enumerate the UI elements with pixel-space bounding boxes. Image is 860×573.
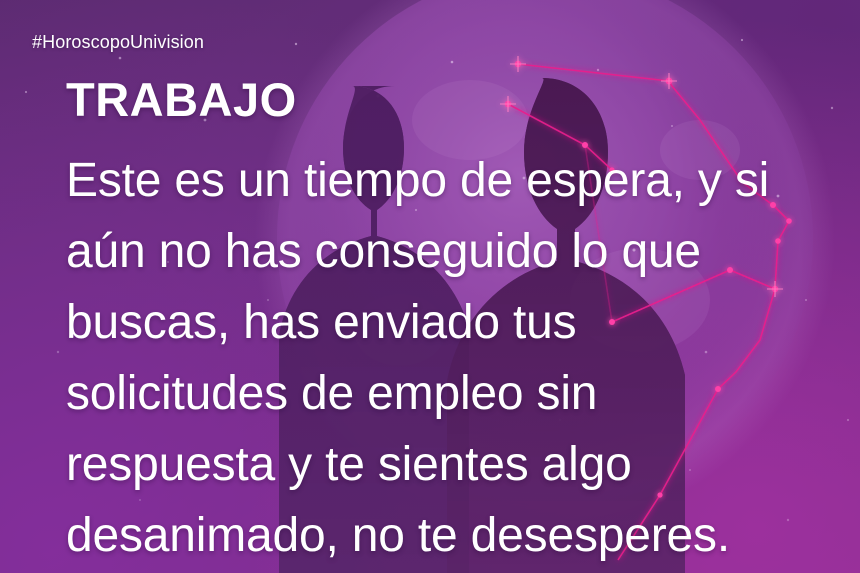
page-title: TRABAJO [66, 76, 297, 123]
body-line-2: aún no has conseguido lo que [66, 216, 856, 287]
body-line-4: solicitudes de empleo sin [66, 358, 856, 429]
horoscope-card: #HoroscopoUnivision TRABAJO Este es un t… [0, 0, 860, 573]
body-line-5: respuesta y te sientes algo [66, 429, 856, 500]
hashtag-label: #HoroscopoUnivision [32, 32, 204, 53]
body-line-6: desanimado, no te desesperes. [66, 500, 856, 571]
horoscope-body: Este es un tiempo de espera, y si aún no… [66, 145, 856, 571]
text-content: #HoroscopoUnivision TRABAJO Este es un t… [0, 0, 860, 573]
body-line-1: Este es un tiempo de espera, y si [66, 145, 856, 216]
body-line-3: buscas, has enviado tus [66, 287, 856, 358]
